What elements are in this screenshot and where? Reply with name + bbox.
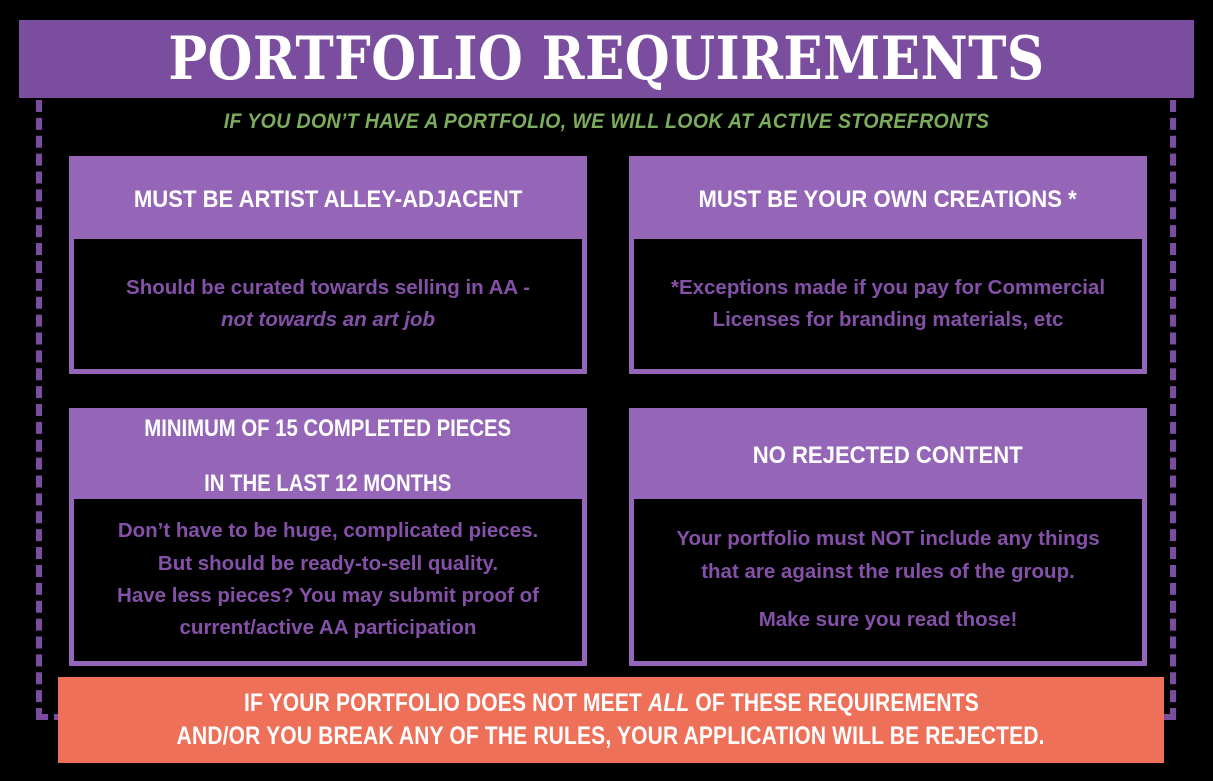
card-body: Your portfolio must NOT include any thin… bbox=[634, 499, 1142, 661]
card-title-line-2: IN THE LAST 12 MONTHS bbox=[145, 470, 512, 498]
requirement-card-no-rejected-content: NO REJECTED CONTENT Your portfolio must … bbox=[629, 408, 1147, 666]
card-row-top: MUST BE ARTIST ALLEY-ADJACENT Should be … bbox=[69, 156, 1147, 374]
card-body-line: Should be curated towards selling in AA … bbox=[126, 275, 530, 301]
card-body-line: Have less pieces? You may submit proof o… bbox=[117, 583, 539, 609]
card-body-line: *Exceptions made if you pay for Commerci… bbox=[671, 275, 1105, 301]
footer-line-1: IF YOUR PORTFOLIO DOES NOT MEET ALL OF T… bbox=[244, 687, 979, 720]
card-row-bottom: MINIMUM OF 15 COMPLETED PIECES IN THE LA… bbox=[69, 408, 1147, 666]
footer-line-1-pre: IF YOUR PORTFOLIO DOES NOT MEET bbox=[244, 689, 648, 717]
card-body: Don’t have to be huge, complicated piece… bbox=[74, 499, 582, 661]
footer-line-2: AND/OR YOU BREAK ANY OF THE RULES, YOUR … bbox=[177, 720, 1045, 753]
card-header: MUST BE YOUR OWN CREATIONS * bbox=[634, 161, 1142, 239]
card-title: MUST BE ARTIST ALLEY-ADJACENT bbox=[134, 186, 522, 214]
card-header: MUST BE ARTIST ALLEY-ADJACENT bbox=[74, 161, 582, 239]
card-body-line: current/active AA participation bbox=[180, 615, 477, 641]
requirement-card-own-creations: MUST BE YOUR OWN CREATIONS * *Exceptions… bbox=[629, 156, 1147, 374]
requirement-card-minimum-pieces: MINIMUM OF 15 COMPLETED PIECES IN THE LA… bbox=[69, 408, 587, 666]
title-bar: PORTFOLIO REQUIREMENTS bbox=[19, 20, 1194, 98]
card-body-line: that are against the rules of the group. bbox=[701, 559, 1075, 585]
card-body-line: Don’t have to be huge, complicated piece… bbox=[118, 518, 538, 544]
card-header: NO REJECTED CONTENT bbox=[634, 413, 1142, 499]
footer-emphasis-all: ALL bbox=[648, 689, 689, 717]
card-title-line-1: MINIMUM OF 15 COMPLETED PIECES bbox=[145, 415, 512, 443]
portfolio-requirements-poster: PORTFOLIO REQUIREMENTS IF YOU DON’T HAVE… bbox=[0, 0, 1213, 781]
card-title: MUST BE YOUR OWN CREATIONS * bbox=[699, 186, 1077, 214]
rejection-warning-banner: IF YOUR PORTFOLIO DOES NOT MEET ALL OF T… bbox=[58, 677, 1164, 763]
page-title: PORTFOLIO REQUIREMENTS bbox=[168, 29, 1044, 89]
card-title: MINIMUM OF 15 COMPLETED PIECES IN THE LA… bbox=[129, 415, 528, 498]
card-body-line: But should be ready-to-sell quality. bbox=[158, 551, 498, 577]
card-body-line: Your portfolio must NOT include any thin… bbox=[676, 526, 1099, 552]
footer-line-1-post: OF THESE REQUIREMENTS bbox=[689, 689, 979, 717]
card-body: Should be curated towards selling in AA … bbox=[74, 239, 582, 369]
card-header: MINIMUM OF 15 COMPLETED PIECES IN THE LA… bbox=[74, 413, 582, 499]
card-body-line: Licenses for branding materials, etc bbox=[713, 307, 1064, 333]
card-body-line: not towards an art job bbox=[221, 307, 435, 333]
requirement-card-artist-alley-adjacent: MUST BE ARTIST ALLEY-ADJACENT Should be … bbox=[69, 156, 587, 374]
card-title: NO REJECTED CONTENT bbox=[753, 442, 1023, 470]
card-body-line: Make sure you read those! bbox=[759, 607, 1018, 633]
requirement-cards-grid: MUST BE ARTIST ALLEY-ADJACENT Should be … bbox=[69, 156, 1147, 666]
subtitle-note: IF YOU DON’T HAVE A PORTFOLIO, WE WILL L… bbox=[42, 110, 1170, 134]
card-body: *Exceptions made if you pay for Commerci… bbox=[634, 239, 1142, 369]
